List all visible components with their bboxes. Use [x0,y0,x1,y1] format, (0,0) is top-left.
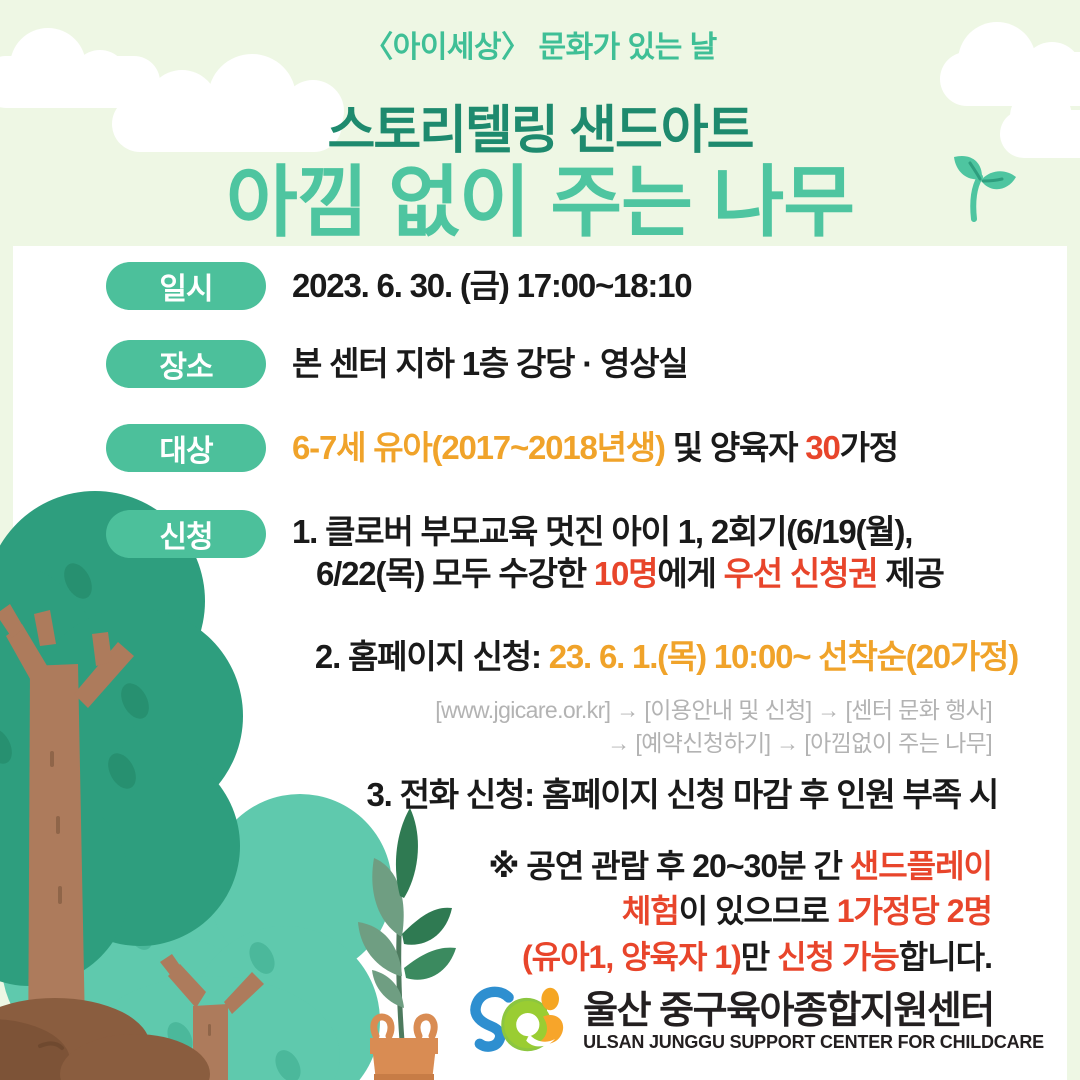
path-note-line2: → [예약신청하기] → [아낌없이 주는 나무] [0,727,992,760]
caution-line2: 체험이 있으므로 1가정당 2명 [0,889,992,934]
audience-guardian: 및 양육자 [665,429,806,466]
event-poster: 〈아이세상〉 문화가 있는 날 스토리텔링 샌드아트 아낌 없이 주는 나무 [0,0,1080,1080]
website-path-note: [www.jgicare.or.kr] → [이용안내 및 신청] → [센터 … [0,694,1054,761]
audience-age: 6-7세 유아(2017~2018년생) [292,429,665,466]
audience-unit: 가정 [840,429,898,466]
value-apply: 1. 클로버 부모교육 멋진 아이 1, 2회기(6/19(월), 6/22(목… [266,510,1080,595]
caution-note: ※ 공연 관람 후 20~30분 간 샌드플레이 체험이 있으므로 1가정당 2… [0,844,1054,980]
info-row-apply: 신청 1. 클로버 부모교육 멋진 아이 1, 2회기(6/19(월), 6/2… [0,510,1080,595]
apply-item1-provide: 제공 [877,555,943,592]
caution-l3-b: 만 [741,939,777,975]
apply-item1-date: 6/22(목) 모두 수강한 [316,555,594,592]
apply-item2: 2. 홈페이지 신청: 23. 6. 1.(목) 10:00~ 선착순(20가정… [0,636,1054,679]
logo-text-block: 울산 중구육아종합지원센터 ULSAN JUNGGU SUPPORT CENTE… [583,992,1044,1053]
apply-item3: 3. 전화 신청: 홈페이지 신청 마감 후 인원 부족 시 [0,774,1054,817]
caution-l3-d: 합니다. [899,939,992,975]
organization-logo: 울산 중구육아종합지원센터 ULSAN JUNGGU SUPPORT CENTE… [467,984,1044,1062]
poster-eyebrow: 〈아이세상〉 문화가 있는 날 [0,22,1080,66]
venue-text: 본 센터 지하 1층 강당 · 영상실 [292,345,688,382]
sci-logo-icon [467,984,571,1062]
audience-count: 30 [805,429,839,466]
info-rows: 일시 2023. 6. 30. (금) 17:00~18:10 장소 본 센터 … [0,246,1080,603]
caution-l3-a: (유아1, 양육자 1) [522,939,741,975]
apply-item3-text: 3. 전화 신청: 홈페이지 신청 마감 후 인원 부족 시 [366,776,998,813]
info-row-audience: 대상 6-7세 유아(2017~2018년생) 및 양육자 30가정 [0,424,1080,472]
label-datetime: 일시 [106,262,266,310]
caution-line1: ※ 공연 관람 후 20~30분 간 샌드플레이 [0,844,992,889]
path-note-line1: [www.jgicare.or.kr] → [이용안내 및 신청] → [센터 … [0,694,992,727]
apply-item1-text: 1. 클로버 부모교육 멋진 아이 1, 2회기(6/19(월), [292,513,912,550]
apply-item1-count: 10명 [594,555,657,592]
datetime-text: 2023. 6. 30. (금) 17:00~18:10 [292,267,691,304]
caution-l1-b: 샌드플레이 [850,848,992,884]
info-row-venue: 장소 본 센터 지하 1층 강당 · 영상실 [0,340,1080,388]
caution-line3: (유아1, 양육자 1)만 신청 가능합니다. [0,935,992,980]
label-venue: 장소 [106,340,266,388]
caution-l2-c: 1가정당 2명 [837,893,992,929]
info-row-datetime: 일시 2023. 6. 30. (금) 17:00~18:10 [0,262,1080,310]
caution-l1-a: ※ 공연 관람 후 20~30분 간 [488,848,849,884]
logo-name-en: ULSAN JUNGGU SUPPORT CENTER FOR CHILDCAR… [583,1032,1044,1054]
value-datetime: 2023. 6. 30. (금) 17:00~18:10 [266,262,1080,307]
caution-l2-b: 이 있으므로 [679,893,837,929]
apply-item1-to: 에게 [657,555,723,592]
label-audience: 대상 [106,424,266,472]
apply-item1-line2: 6/22(목) 모두 수강한 10명에게 우선 신청권 제공 [292,553,1080,595]
logo-name-ko: 울산 중구육아종합지원센터 [583,992,1044,1032]
poster-header: 〈아이세상〉 문화가 있는 날 스토리텔링 샌드아트 아낌 없이 주는 나무 [0,0,1080,246]
value-audience: 6-7세 유아(2017~2018년생) 및 양육자 30가정 [266,424,1080,469]
apply-item1-priority: 우선 신청권 [724,555,878,592]
apply-item2-schedule: 23. 6. 1.(목) 10:00~ 선착순(20가정) [549,638,1018,675]
label-apply: 신청 [106,510,266,558]
apply-item1-line1: 1. 클로버 부모교육 멋진 아이 1, 2회기(6/19(월), [292,511,1080,553]
sprout-icon [930,135,1020,225]
apply-item2-label: 2. 홈페이지 신청: [315,638,549,675]
caution-l2-a: 체험 [622,893,679,929]
poster-title: 아낌 없이 주는 나무 [0,140,1080,246]
value-venue: 본 센터 지하 1층 강당 · 영상실 [266,340,1080,385]
caution-l3-c: 신청 가능 [777,939,899,975]
